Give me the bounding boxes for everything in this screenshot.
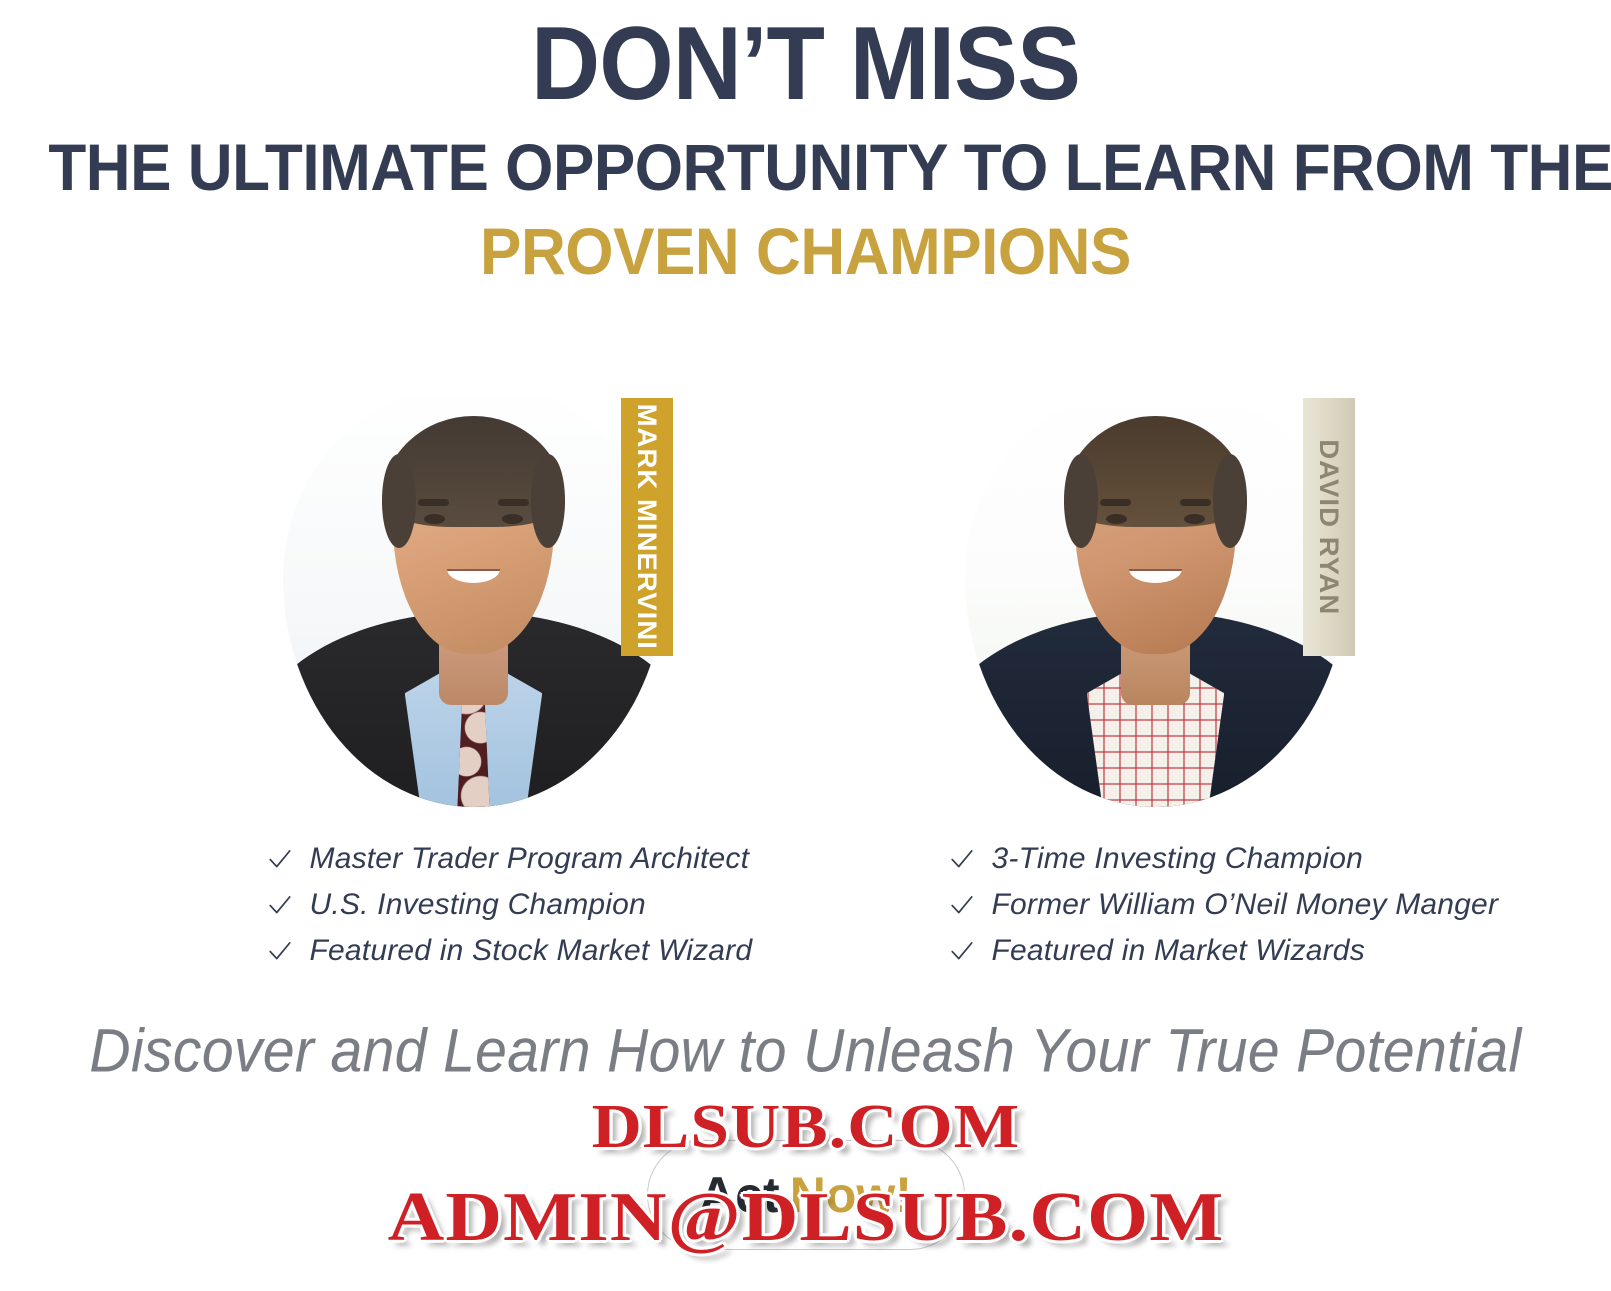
portrait-hair-left	[1064, 454, 1098, 548]
check-icon	[949, 938, 975, 964]
tagline: Discover and Learn How to Unleash Your T…	[0, 1015, 1611, 1086]
list-item: Former William O’Neil Money Manger	[949, 882, 1357, 928]
portrait-hair-left	[382, 454, 416, 548]
speaker-credentials-mark-minervini: Master Trader Program Architect U.S. Inv…	[255, 836, 675, 974]
speaker-card-david-ryan: DAVID RYAN 3-Time Investing Champion For…	[937, 372, 1357, 974]
portrait-hair-right	[1213, 454, 1247, 548]
speaker-name-label: DAVID RYAN	[1313, 439, 1344, 615]
speaker-name-label: MARK MINERVINI	[631, 404, 662, 650]
credential-text: Former William O’Neil Money Manger	[992, 888, 1499, 922]
speaker-portrait-mark-minervini	[283, 382, 665, 807]
check-icon	[267, 938, 293, 964]
list-item: U.S. Investing Champion	[267, 882, 675, 928]
credential-text: U.S. Investing Champion	[310, 888, 646, 922]
portrait-eye-left	[424, 514, 445, 524]
portrait-brow-left	[418, 499, 449, 506]
speakers-row: MARK MINERVINI Master Trader Program Arc…	[0, 372, 1611, 974]
headline-primary: DON’T MISS	[64, 8, 1546, 120]
speaker-photo-wrapper: MARK MINERVINI	[265, 372, 665, 812]
list-item: Featured in Market Wizards	[949, 928, 1357, 974]
check-icon	[949, 892, 975, 918]
speaker-name-banner-david-ryan: DAVID RYAN	[1303, 398, 1355, 656]
credential-text: Featured in Market Wizards	[992, 934, 1365, 968]
speaker-photo-wrapper: DAVID RYAN	[947, 372, 1347, 812]
credential-text: Featured in Stock Market Wizard	[310, 934, 753, 968]
headline-accent: PROVEN CHAMPIONS	[48, 212, 1562, 291]
credential-text: Master Trader Program Architect	[310, 842, 750, 876]
check-icon	[267, 892, 293, 918]
list-item: 3-Time Investing Champion	[949, 836, 1357, 882]
portrait-brow-right	[498, 499, 529, 506]
headline-block: DON’T MISS THE ULTIMATE OPPORTUNITY TO L…	[0, 0, 1611, 291]
portrait-hair-right	[531, 454, 565, 548]
portrait-eye-right	[1184, 514, 1205, 524]
portrait-eye-right	[502, 514, 523, 524]
promo-page: DON’T MISS THE ULTIMATE OPPORTUNITY TO L…	[0, 0, 1611, 1291]
watermark-site: DLSUB.COM	[591, 1092, 1020, 1163]
headline-secondary: THE ULTIMATE OPPORTUNITY TO LEARN FROM T…	[48, 128, 1562, 207]
speaker-name-banner-mark-minervini: MARK MINERVINI	[621, 398, 673, 656]
speaker-card-mark-minervini: MARK MINERVINI Master Trader Program Arc…	[255, 372, 675, 974]
portrait-brow-right	[1180, 499, 1211, 506]
credential-text: 3-Time Investing Champion	[992, 842, 1364, 876]
speaker-portrait-david-ryan	[965, 382, 1347, 807]
speaker-credentials-david-ryan: 3-Time Investing Champion Former William…	[937, 836, 1357, 974]
check-icon	[949, 846, 975, 872]
list-item: Featured in Stock Market Wizard	[267, 928, 675, 974]
list-item: Master Trader Program Architect	[267, 836, 675, 882]
watermark-email: ADMIN@DLSUB.COM	[387, 1178, 1224, 1258]
portrait-brow-left	[1100, 499, 1131, 506]
portrait-eye-left	[1106, 514, 1127, 524]
check-icon	[267, 846, 293, 872]
